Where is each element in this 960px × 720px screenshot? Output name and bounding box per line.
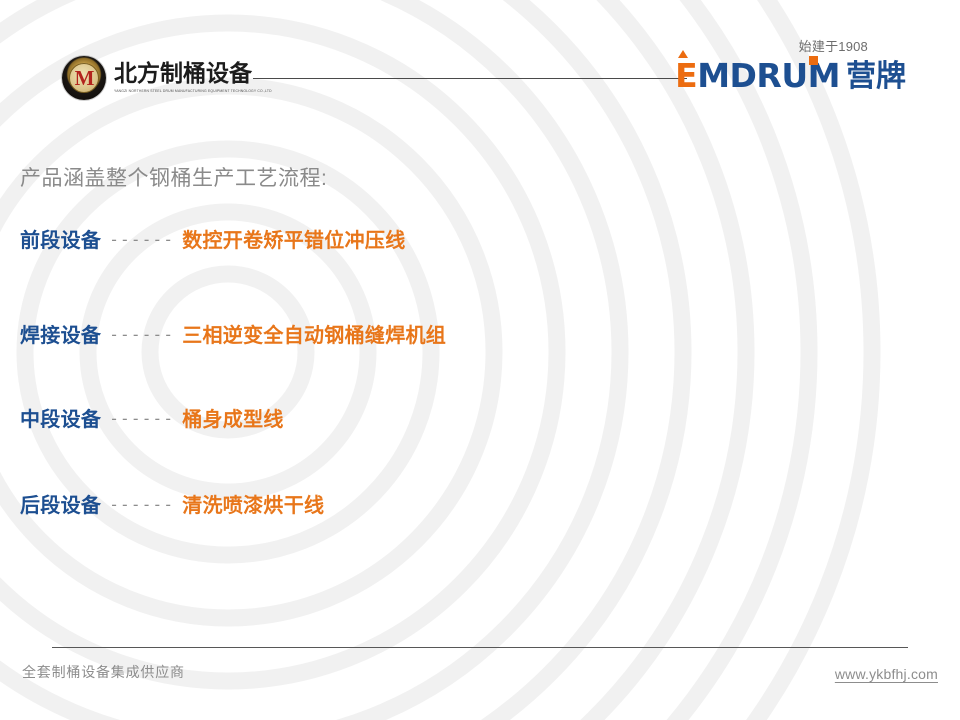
process-value: 数控开卷矫平错位冲压线 (182, 224, 405, 253)
process-dash-separator: ------ (109, 495, 174, 514)
process-value: 三相逆变全自动钢桶缝焊机组 (182, 319, 446, 348)
process-row: 中段设备 ------ 桶身成型线 (20, 403, 284, 432)
process-value: 桶身成型线 (182, 403, 284, 432)
footer-divider-line (52, 647, 908, 648)
footer-tagline: 全套制桶设备集成供应商 (22, 662, 185, 682)
slide-canvas: M 北方制桶设备 YANGZI NORTHERN STEEL DRUM MANU… (0, 0, 960, 720)
process-label: 中段设备 (20, 403, 101, 432)
process-label: 前段设备 (20, 224, 101, 253)
process-dash-separator: ------ (109, 325, 174, 344)
process-row: 后段设备 ------ 清洗喷漆烘干线 (20, 489, 324, 518)
intro-heading: 产品涵盖整个钢桶生产工艺流程: (20, 162, 327, 192)
process-value: 清洗喷漆烘干线 (182, 489, 324, 518)
process-dash-separator: ------ (109, 409, 174, 428)
process-row: 前段设备 ------ 数控开卷矫平错位冲压线 (20, 224, 406, 253)
process-dash-separator: ------ (109, 230, 174, 249)
process-label: 后段设备 (20, 489, 101, 518)
footer-website-link[interactable]: www.ykbfhj.com (835, 666, 938, 682)
process-row: 焊接设备 ------ 三相逆变全自动钢桶缝焊机组 (20, 319, 446, 348)
slide-body: 产品涵盖整个钢桶生产工艺流程: 前段设备 ------ 数控开卷矫平错位冲压线 … (0, 0, 960, 720)
process-label: 焊接设备 (20, 319, 101, 348)
